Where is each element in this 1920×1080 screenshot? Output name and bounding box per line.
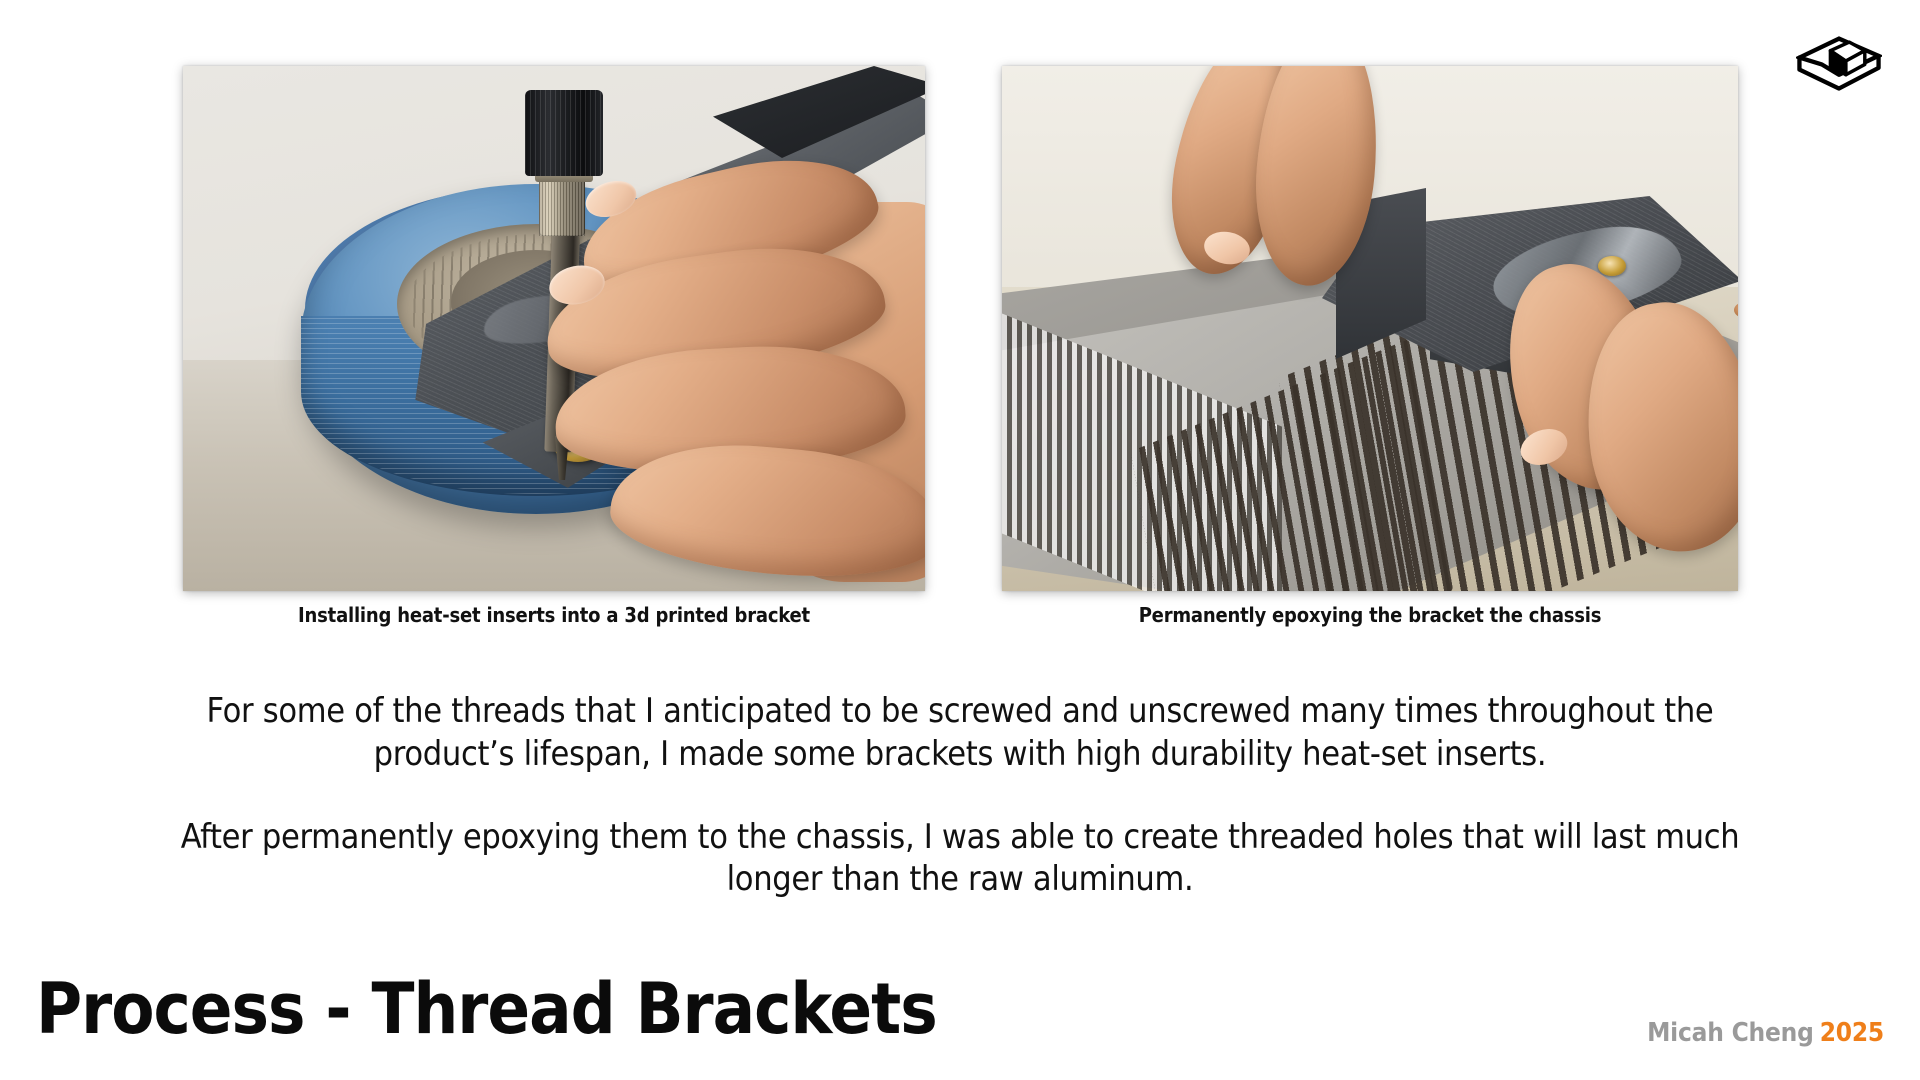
body-paragraph-2: After permanently epoxying them to the c… bbox=[160, 816, 1760, 902]
page-title: Process - Thread Brackets bbox=[36, 974, 937, 1044]
slide: Installing heat-set inserts into a 3d pr… bbox=[0, 0, 1920, 1080]
footer-credit: Micah Cheng2025 bbox=[1647, 1018, 1884, 1048]
figure-row: Installing heat-set inserts into a 3d pr… bbox=[0, 0, 1920, 640]
figure-right-image bbox=[1002, 66, 1738, 591]
footer-author: Micah Cheng bbox=[1647, 1018, 1814, 1048]
footer-year: 2025 bbox=[1820, 1018, 1884, 1048]
figure-left: Installing heat-set inserts into a 3d pr… bbox=[183, 66, 925, 627]
figure-left-caption: Installing heat-set inserts into a 3d pr… bbox=[183, 603, 925, 627]
figure-right: Permanently epoxying the bracket the cha… bbox=[1002, 66, 1738, 627]
figure-right-caption: Permanently epoxying the bracket the cha… bbox=[1002, 603, 1738, 627]
figure-left-image bbox=[183, 66, 925, 591]
body-paragraph-1: For some of the threads that I anticipat… bbox=[160, 690, 1760, 776]
body-copy: For some of the threads that I anticipat… bbox=[160, 690, 1760, 901]
